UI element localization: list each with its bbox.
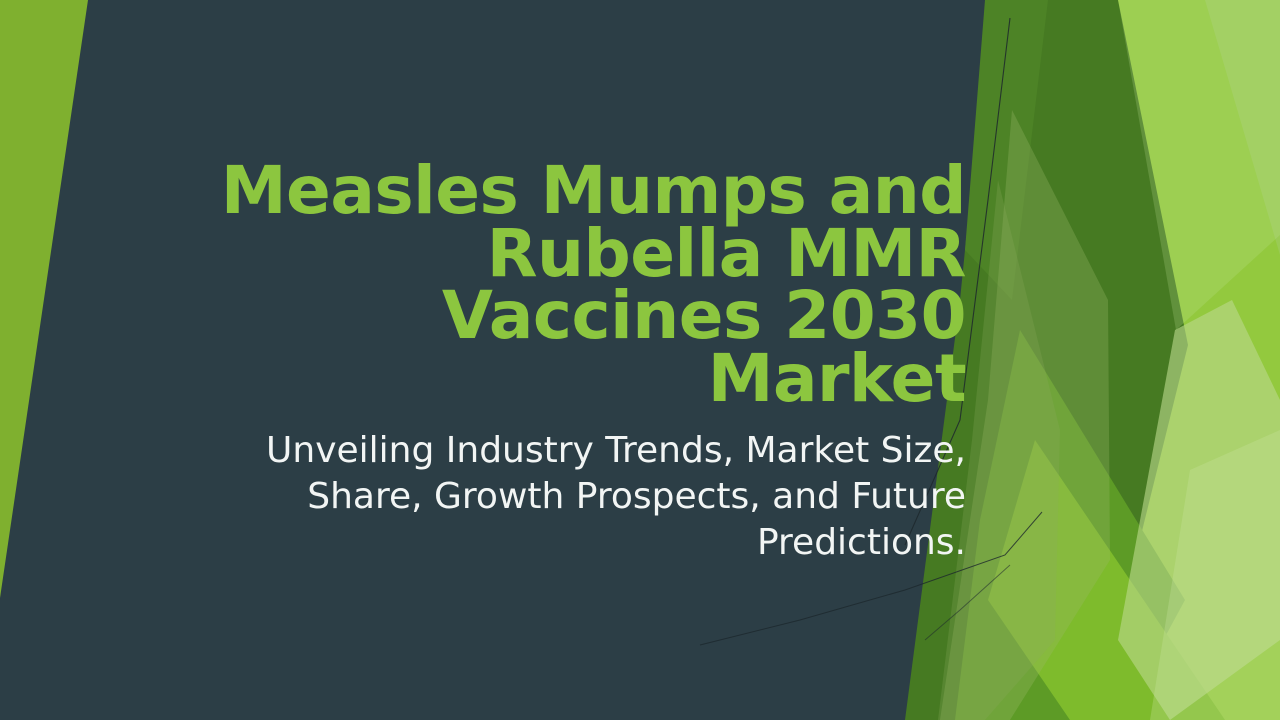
title-placeholder[interactable]: Measles Mumps and Rubella MMR Vaccines 2… (180, 160, 966, 411)
subtitle-placeholder[interactable]: Unveiling Industry Trends, Market Size, … (180, 428, 966, 566)
slide-subtitle: Unveiling Industry Trends, Market Size, … (180, 428, 966, 566)
slide-content: Measles Mumps and Rubella MMR Vaccines 2… (0, 0, 1280, 720)
title-slide: Measles Mumps and Rubella MMR Vaccines 2… (0, 0, 1280, 720)
page-title: Measles Mumps and Rubella MMR Vaccines 2… (180, 160, 966, 411)
